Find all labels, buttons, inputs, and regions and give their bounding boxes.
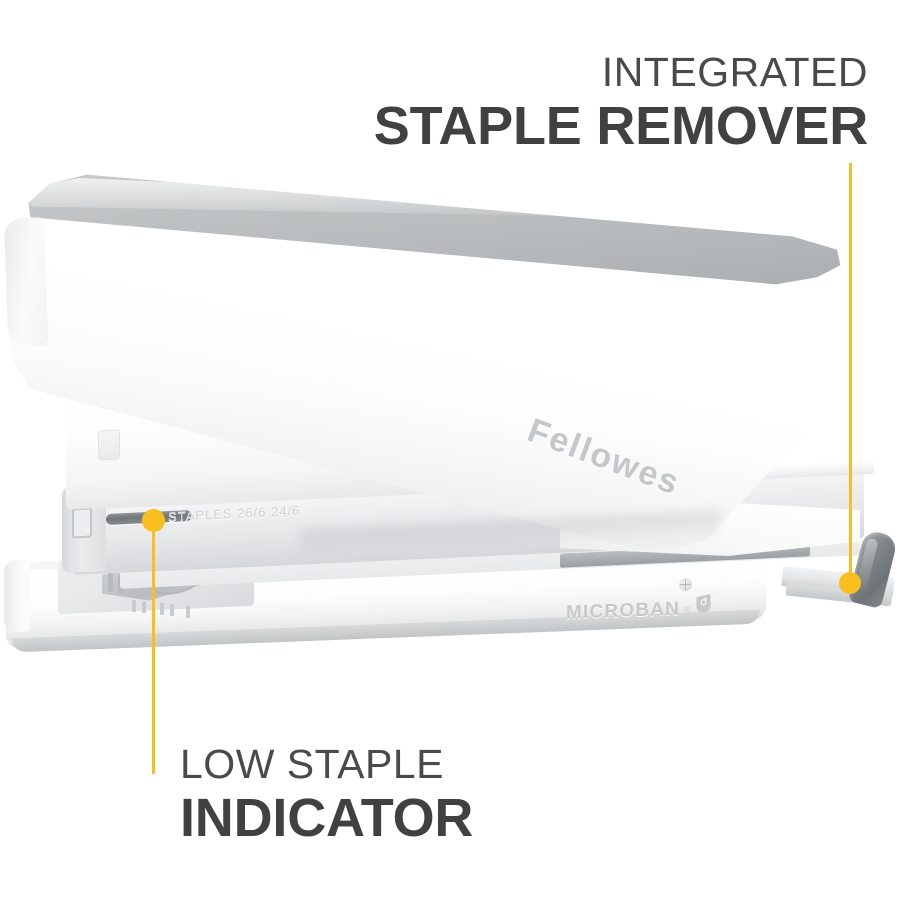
stapler-anvil-tick bbox=[186, 606, 190, 618]
stapler-anvil-tick bbox=[142, 601, 146, 613]
leader-line-staple-remover bbox=[849, 163, 852, 583]
stapler-top-arm-left-cap bbox=[4, 217, 48, 346]
stapler-top-arm[interactable]: Fellowes bbox=[4, 170, 850, 560]
leader-line-low-staple-indicator bbox=[152, 520, 155, 774]
stapler-anvil-tick bbox=[132, 600, 136, 612]
stapler-base-left-cap bbox=[4, 560, 30, 633]
callout-staple-remover-line2: STAPLE REMOVER bbox=[374, 99, 868, 153]
microban-trademark: ® bbox=[684, 604, 691, 614]
leader-dot-low-staple-indicator bbox=[142, 509, 165, 532]
callout-staple-remover-line1: INTEGRATED bbox=[374, 52, 868, 93]
microban-label: MICROBAN bbox=[566, 598, 680, 624]
callout-staple-remover: INTEGRATED STAPLE REMOVER bbox=[374, 52, 868, 153]
stapler-anvil-slot bbox=[108, 572, 113, 592]
callout-low-staple-indicator-line2: INDICATOR bbox=[180, 791, 473, 845]
callout-low-staple-indicator: LOW STAPLE INDICATOR bbox=[180, 744, 473, 845]
product-feature-graphic: MICROBAN® STAPLES 26/6 24/6 bbox=[0, 0, 900, 900]
stapler-anvil-tick bbox=[160, 603, 164, 615]
callout-low-staple-indicator-line1: LOW STAPLE bbox=[180, 744, 473, 785]
microban-hex-icon bbox=[695, 593, 712, 614]
microban-badge: MICROBAN® bbox=[566, 593, 712, 627]
stapler-anvil-tick bbox=[170, 604, 174, 616]
leader-dot-staple-remover bbox=[839, 572, 861, 594]
